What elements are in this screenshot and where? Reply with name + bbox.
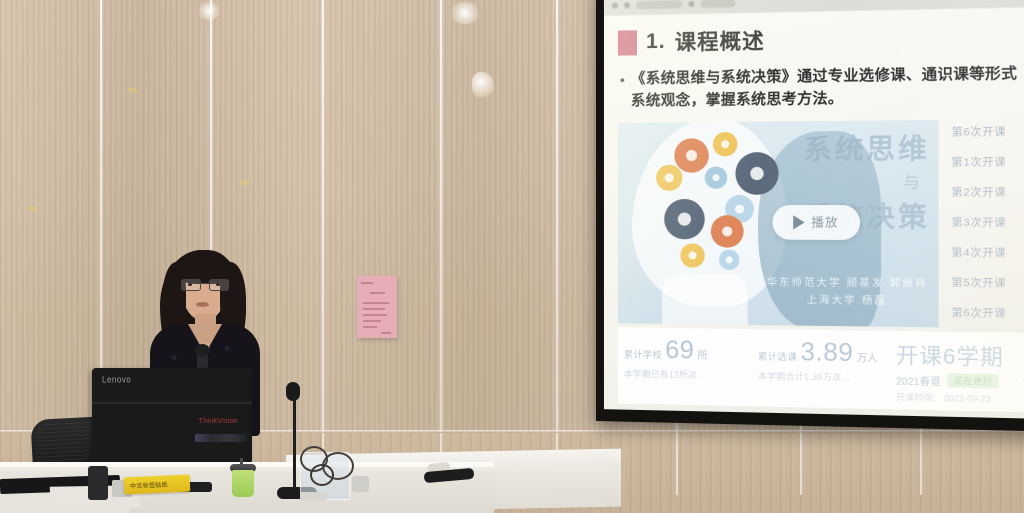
black-speaker-box[interactable] <box>88 466 108 500</box>
gear-icon <box>705 166 727 188</box>
wainscot-seam <box>800 433 802 495</box>
lenovo-logo: Lenovo <box>102 374 131 384</box>
list-item[interactable]: 第1次开课 <box>951 153 1006 169</box>
term-selector[interactable]: 开课6学期 2021春夏 正在进行 ⌃ 开课时间： 2021-09-22 <box>896 339 1024 406</box>
course-video-thumbnail[interactable]: 系统思维 与 系统决策 华东师范大学 顾基发 郭继祥 上海大学 杨磊 播放 <box>618 120 939 327</box>
mouth <box>196 302 209 307</box>
yellow-box-text: 中文标签贴纸 <box>130 480 168 491</box>
gear-icon <box>735 152 778 195</box>
list-item[interactable]: 第4次开课 <box>951 244 1006 260</box>
play-button-label: 播放 <box>811 213 838 230</box>
list-item[interactable]: 第5次开课 <box>951 274 1006 290</box>
slide-bullet-text: 《系统思维与系统决策》通过专业选修课、通识课等形式 系统观念，掌握系统思考方法。 <box>631 64 1024 113</box>
term-name: 2021春夏 <box>896 372 941 388</box>
course-session-list[interactable]: 第6次开课 第1次开课 第2次开课 第3次开课 第4次开课 第5次开课 第6次开… <box>945 119 1024 328</box>
list-item[interactable]: 第6次开课 <box>951 123 1006 139</box>
chrome-forward-icon[interactable] <box>624 2 630 8</box>
video-credits: 华东师范大学 顾基发 郭继祥 上海大学 杨磊 <box>767 274 928 310</box>
wall-panel-seam <box>440 0 442 432</box>
wall-panel-seam <box>556 0 558 432</box>
bullet-dot-icon: • <box>620 72 625 88</box>
gear-icon <box>719 249 739 269</box>
stat-schools: 累计学校 69 所 本学期已有12所次... <box>624 335 750 381</box>
play-button[interactable]: 播放 <box>772 205 860 240</box>
stat-enrollment-sub: 本学期合计1.35万次... <box>758 369 887 384</box>
slide-bullet: • 《系统思维与系统决策》通过专业选修课、通识课等形式 系统观念，掌握系统思考方… <box>618 64 1024 114</box>
stat-schools-value: 69 <box>665 335 694 365</box>
lenovo-monitor[interactable]: Lenovo ThinkVision <box>92 368 252 464</box>
video-title-line2: 与 <box>804 170 922 192</box>
list-item[interactable]: 第2次开课 <box>951 184 1006 200</box>
gear-icon <box>674 138 709 173</box>
video-title-line1: 系统思维 <box>804 126 930 167</box>
projection-screen-frame: 1. 课程概述 • 《系统思维与系统决策》通过专业选修课、通识课等形式 系统观念… <box>596 0 1024 432</box>
small-adapter <box>352 476 369 492</box>
monitor-ports <box>195 434 247 442</box>
chrome-address-bar[interactable] <box>636 0 682 9</box>
stat-schools-unit: 所 <box>697 346 707 361</box>
wainscot-seam <box>920 433 922 495</box>
green-drink-cup[interactable] <box>232 470 254 497</box>
slide-body: 系统思维 与 系统决策 华东师范大学 顾基发 郭继祥 上海大学 杨磊 播放 <box>618 119 1024 328</box>
status-badge: 正在进行 <box>947 373 999 389</box>
gear-icon <box>656 164 682 190</box>
usb-hub <box>300 492 326 501</box>
projection-screen[interactable]: 1. 课程概述 • 《系统思维与系统决策》通过专业选修课、通识课等形式 系统观念… <box>604 0 1024 419</box>
heading-accent-chip <box>618 30 637 55</box>
gear-icon <box>664 198 705 238</box>
term-headline: 开课6学期 <box>896 339 1024 372</box>
stat-enrollment-label: 累计选课 <box>758 349 797 363</box>
coiled-cable <box>310 464 334 486</box>
term-sub: 开课时间： 2021-09-22 <box>896 390 1024 405</box>
video-credit-line1: 华东师范大学 顾基发 郭继祥 <box>767 274 928 293</box>
stat-enrollment-value: 3.89 <box>800 337 853 368</box>
gear-icon <box>680 243 704 267</box>
wall-sticker <box>472 72 494 100</box>
monitor-mark: ThinkVision <box>199 418 238 425</box>
stat-schools-label: 累计学校 <box>624 347 662 361</box>
neck-silhouette <box>662 273 748 327</box>
slide-content: 1. 课程概述 • 《系统思维与系统决策》通过专业选修课、通识课等形式 系统观念… <box>604 7 1024 419</box>
chrome-back-icon[interactable] <box>612 3 618 9</box>
chrome-refresh-icon[interactable] <box>688 1 694 7</box>
slide-section-title: 课程概述 <box>675 25 765 57</box>
slide-heading: 1. 课程概述 <box>618 20 1024 58</box>
course-stats-bar: 累计学校 69 所 本学期已有12所次... 累计选课 3.89 万人 本学期合… <box>618 327 1024 412</box>
glasses <box>181 279 227 289</box>
chrome-tab[interactable] <box>701 0 736 8</box>
slide-section-number: 1. <box>646 30 666 54</box>
stat-schools-sub: 本学期已有12所次... <box>624 367 750 381</box>
wall-panel-seam <box>322 0 324 432</box>
wainscot-seam <box>676 433 678 495</box>
stat-enrollment: 累计选课 3.89 万人 本学期合计1.35万次... <box>758 337 887 384</box>
yellow-label-box: 中文标签贴纸 <box>124 475 191 495</box>
list-item[interactable]: 第3次开课 <box>951 214 1006 230</box>
gear-icon <box>713 131 738 155</box>
microphone-head-icon <box>195 344 210 357</box>
gear-icon <box>711 215 744 248</box>
play-triangle-icon <box>794 215 805 229</box>
desk-microphone-stem <box>293 396 296 490</box>
stat-enrollment-unit: 万人 <box>857 348 878 364</box>
lecture-room-screenshot: 1. 课程概述 • 《系统思维与系统决策》通过专业选修课、通识课等形式 系统观念… <box>0 0 1024 513</box>
video-credit-line2: 上海大学 杨磊 <box>767 291 928 310</box>
pink-notice-sheet <box>357 276 397 338</box>
list-item[interactable]: 第6次开课 <box>951 304 1006 320</box>
